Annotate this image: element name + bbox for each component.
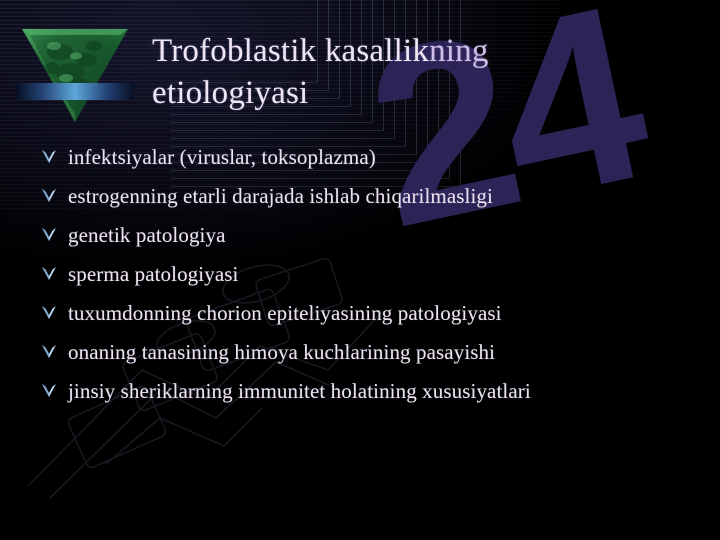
bullet-item: tuxumdonning chorion epiteliyasining pat… <box>36 298 696 337</box>
title-line-1-main: Trofoblastik kasallik <box>152 33 429 69</box>
bullet-item: onaning tanasining himoya kuchlarining p… <box>36 337 696 376</box>
checkmark-bullet-icon <box>40 148 58 166</box>
bullet-list: infektsiyalar (viruslar, toksoplazma)est… <box>36 142 696 415</box>
logo-blue-bar <box>16 83 134 100</box>
bullet-item-label: sperma patologiyasi <box>68 259 238 289</box>
bullet-item-label: jinsiy sheriklarning immunitet holatinin… <box>68 376 531 406</box>
bullet-item: infektsiyalar (viruslar, toksoplazma) <box>36 142 696 181</box>
bullet-item-label: estrogenning etarli darajada ishlab chiq… <box>68 181 493 211</box>
checkmark-bullet-icon <box>40 226 58 244</box>
bullet-item: sperma patologiyasi <box>36 259 696 298</box>
bullet-item-label: onaning tanasining himoya kuchlarining p… <box>68 337 495 367</box>
bullet-item: estrogenning etarli darajada ishlab chiq… <box>36 181 696 220</box>
title-line-2: etiologiyasi <box>152 75 308 111</box>
bullet-item-label: tuxumdonning chorion epiteliyasining pat… <box>68 298 502 328</box>
checkmark-bullet-icon <box>40 187 58 205</box>
green-triangle-icon <box>14 26 136 124</box>
checkmark-bullet-icon <box>40 304 58 322</box>
logo <box>14 26 136 124</box>
page-title: Trofoblastik kasallikning etiologiyasi <box>152 30 622 114</box>
checkmark-bullet-icon <box>40 265 58 283</box>
bullet-item: jinsiy sheriklarning immunitet holatinin… <box>36 376 696 415</box>
title-line-1-tail: ning <box>429 33 488 69</box>
bullet-item-label: genetik patologiya <box>68 220 226 250</box>
checkmark-bullet-icon <box>40 343 58 361</box>
bullet-item: genetik patologiya <box>36 220 696 259</box>
presentation-slide: 24 <box>0 0 720 540</box>
checkmark-bullet-icon <box>40 382 58 400</box>
bullet-item-label: infektsiyalar (viruslar, toksoplazma) <box>68 142 376 172</box>
